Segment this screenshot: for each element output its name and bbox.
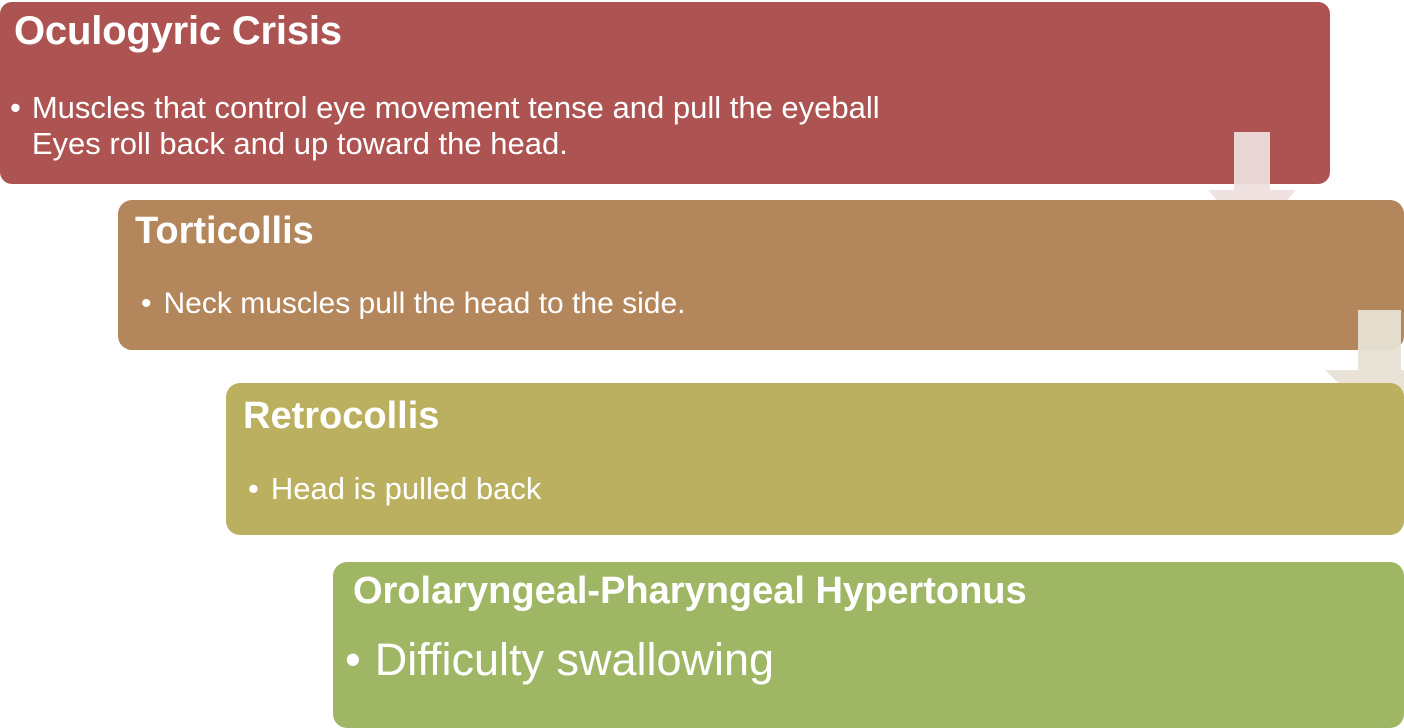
- body-line: Muscles that control eye movement tense …: [32, 90, 880, 126]
- panel-title-oculogyric-crisis: Oculogyric Crisis: [14, 10, 342, 52]
- panel-orolaryngeal-pharyngeal-hypertonus[interactable]: Orolaryngeal-Pharyngeal Hypertonus • Dif…: [333, 562, 1404, 728]
- panel-body-text-group: Neck muscles pull the head to the side.: [164, 287, 686, 322]
- panel-body-text-group: Muscles that control eye movement tense …: [32, 90, 880, 162]
- panel-body-retrocollis: • Head is pulled back: [248, 471, 541, 507]
- panel-torticollis[interactable]: Torticollis • Neck muscles pull the head…: [118, 200, 1404, 350]
- panel-title-torticollis: Torticollis: [135, 211, 314, 251]
- bullet-icon: •: [141, 287, 152, 322]
- panel-title-orolaryngeal-pharyngeal-hypertonus: Orolaryngeal-Pharyngeal Hypertonus: [353, 571, 1027, 611]
- panel-body-orolaryngeal-pharyngeal-hypertonus: • Difficulty swallowing: [345, 634, 774, 686]
- body-line: Neck muscles pull the head to the side.: [164, 287, 686, 322]
- bullet-icon: •: [248, 471, 259, 507]
- bullet-icon: •: [345, 634, 361, 686]
- panel-retrocollis[interactable]: Retrocollis • Head is pulled back: [226, 383, 1404, 535]
- panel-oculogyric-crisis[interactable]: Oculogyric Crisis • Muscles that control…: [0, 2, 1330, 184]
- bullet-icon: •: [10, 90, 21, 126]
- panel-title-retrocollis: Retrocollis: [243, 396, 439, 436]
- body-line: Eyes roll back and up toward the head.: [32, 126, 880, 162]
- panel-body-torticollis: • Neck muscles pull the head to the side…: [141, 287, 685, 322]
- diagram-canvas: Oculogyric Crisis • Muscles that control…: [0, 0, 1404, 728]
- panel-body-text-group: Difficulty swallowing: [375, 634, 774, 686]
- body-line: Head is pulled back: [271, 471, 542, 507]
- panel-body-text-group: Head is pulled back: [271, 471, 542, 507]
- panel-body-oculogyric-crisis: • Muscles that control eye movement tens…: [10, 90, 880, 162]
- body-line: Difficulty swallowing: [375, 634, 774, 686]
